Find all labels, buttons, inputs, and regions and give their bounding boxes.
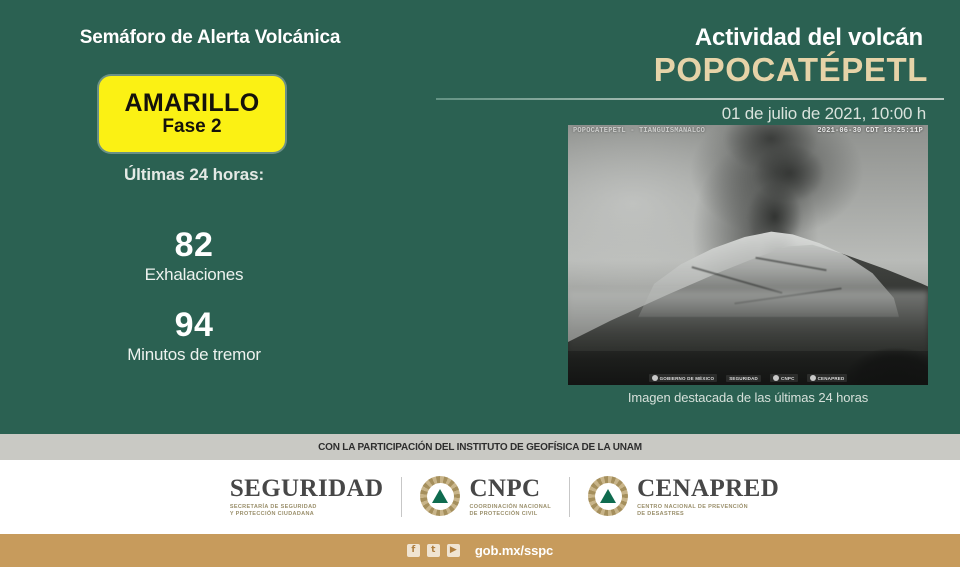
logo-sub-line1: CENTRO NACIONAL DE PREVENCIÓN [637, 504, 748, 510]
logo-cnpc-text: CNPC COORDINACIÓN NACIONAL DE PROTECCIÓN… [469, 476, 551, 519]
main-panel: Semáforo de Alerta Volcánica AMARILLO Fa… [0, 0, 960, 434]
title-divider [436, 98, 944, 100]
webcam-logo-label: CENAPRED [818, 376, 845, 381]
logo-seguridad: SEGURIDAD SECRETARÍA DE SEGURIDAD Y PROT… [181, 476, 384, 519]
cenapred-emblem-icon [588, 476, 628, 518]
stat-exhalaciones: 82 Exhalaciones [0, 228, 388, 286]
cnpc-seal-icon [773, 375, 779, 381]
volcano-webcam-image: POPOCATEPETL - TIANGUISMANALCO 2021-06-3… [568, 125, 928, 385]
institution-logo-strip: SEGURIDAD SECRETARÍA DE SEGURIDAD Y PROT… [0, 460, 960, 534]
activity-subtitle: Actividad del volcán [695, 24, 923, 52]
photo-caption: Imagen destacada de las últimas 24 horas [568, 390, 928, 405]
stat-tremor-value: 94 [0, 308, 388, 344]
participation-text: CON LA PARTICIPACIÓN DEL INSTITUTO DE GE… [318, 442, 642, 453]
cnpc-emblem-icon [420, 476, 460, 518]
webcam-logo-strip: GOBIERNO DE MÉXICO SEGURIDAD CNPC CENAPR… [568, 374, 928, 382]
logo-divider [401, 477, 402, 517]
stat-tremor: 94 Minutos de tremor [0, 308, 388, 366]
webcam-logo-cenapred: CENAPRED [807, 374, 848, 382]
logo-cnpc-sub: COORDINACIÓN NACIONAL DE PROTECCIÓN CIVI… [469, 504, 551, 519]
alert-column: Semáforo de Alerta Volcánica AMARILLO Fa… [0, 0, 420, 434]
logo-sub-line2: DE DESASTRES [637, 511, 684, 517]
logo-seguridad-word: SEGURIDAD [230, 476, 384, 501]
period-label: Últimas 24 horas: [0, 165, 388, 185]
logo-cenapred: CENAPRED CENTRO NACIONAL DE PREVENCIÓN D… [588, 476, 779, 519]
stat-exhalaciones-label: Exhalaciones [0, 264, 388, 286]
semaforo-heading: Semáforo de Alerta Volcánica [0, 27, 420, 49]
eagle-seal-icon [652, 375, 658, 381]
logo-cenapred-text: CENAPRED CENTRO NACIONAL DE PREVENCIÓN D… [637, 476, 779, 519]
logo-cenapred-word: CENAPRED [637, 476, 779, 501]
stat-tremor-label: Minutos de tremor [0, 344, 388, 366]
mexican-eagle-seal-icon [181, 476, 221, 518]
webcam-logo-label: GOBIERNO DE MÉXICO [660, 376, 715, 381]
logo-seguridad-sub: SECRETARÍA DE SEGURIDAD Y PROTECCIÓN CIU… [230, 504, 384, 519]
alert-level-badge: AMARILLO Fase 2 [99, 76, 285, 152]
logo-sub-line1: SECRETARÍA DE SEGURIDAD [230, 504, 317, 510]
webcam-logo-label: SEGURIDAD [729, 376, 758, 381]
twitter-icon[interactable]: t [427, 544, 440, 557]
facebook-icon[interactable]: f [407, 544, 420, 557]
webcam-logo-gobierno: GOBIERNO DE MÉXICO [649, 374, 718, 382]
webcam-logo-label: CNPC [781, 376, 795, 381]
logo-sub-line2: Y PROTECCIÓN CIUDADANA [230, 511, 314, 517]
logo-cenapred-sub: CENTRO NACIONAL DE PREVENCIÓN DE DESASTR… [637, 504, 779, 519]
webcam-station-label: POPOCATEPETL - TIANGUISMANALCO [573, 127, 705, 135]
alert-phase-text: Fase 2 [162, 117, 221, 138]
webcam-timestamp: 2021-06-30 CDT 18:25:11P [817, 127, 923, 135]
footer-bar: f t ▶ gob.mx/sspc [0, 534, 960, 567]
page-title: POPOCATÉPETL [654, 52, 928, 88]
alert-level-text: AMARILLO [124, 91, 259, 116]
site-url-link[interactable]: gob.mx/sspc [475, 543, 553, 558]
cenapred-seal-icon [810, 375, 816, 381]
logo-cnpc: CNPC COORDINACIÓN NACIONAL DE PROTECCIÓN… [420, 476, 551, 519]
logo-cnpc-word: CNPC [469, 476, 551, 501]
volcano-column: Actividad del volcán POPOCATÉPETL 01 de … [420, 0, 960, 434]
logo-sub-line2: DE PROTECCIÓN CIVIL [469, 511, 537, 517]
stat-exhalaciones-value: 82 [0, 228, 388, 264]
webcam-logo-cnpc: CNPC [770, 374, 798, 382]
webcam-logo-seguridad: SEGURIDAD [726, 375, 761, 382]
logo-divider [569, 477, 570, 517]
logo-sub-line1: COORDINACIÓN NACIONAL [469, 504, 551, 510]
participation-bar: CON LA PARTICIPACIÓN DEL INSTITUTO DE GE… [0, 434, 960, 460]
report-date: 01 de julio de 2021, 10:00 h [722, 104, 926, 124]
youtube-icon[interactable]: ▶ [447, 544, 460, 557]
logo-seguridad-text: SEGURIDAD SECRETARÍA DE SEGURIDAD Y PROT… [230, 476, 384, 519]
